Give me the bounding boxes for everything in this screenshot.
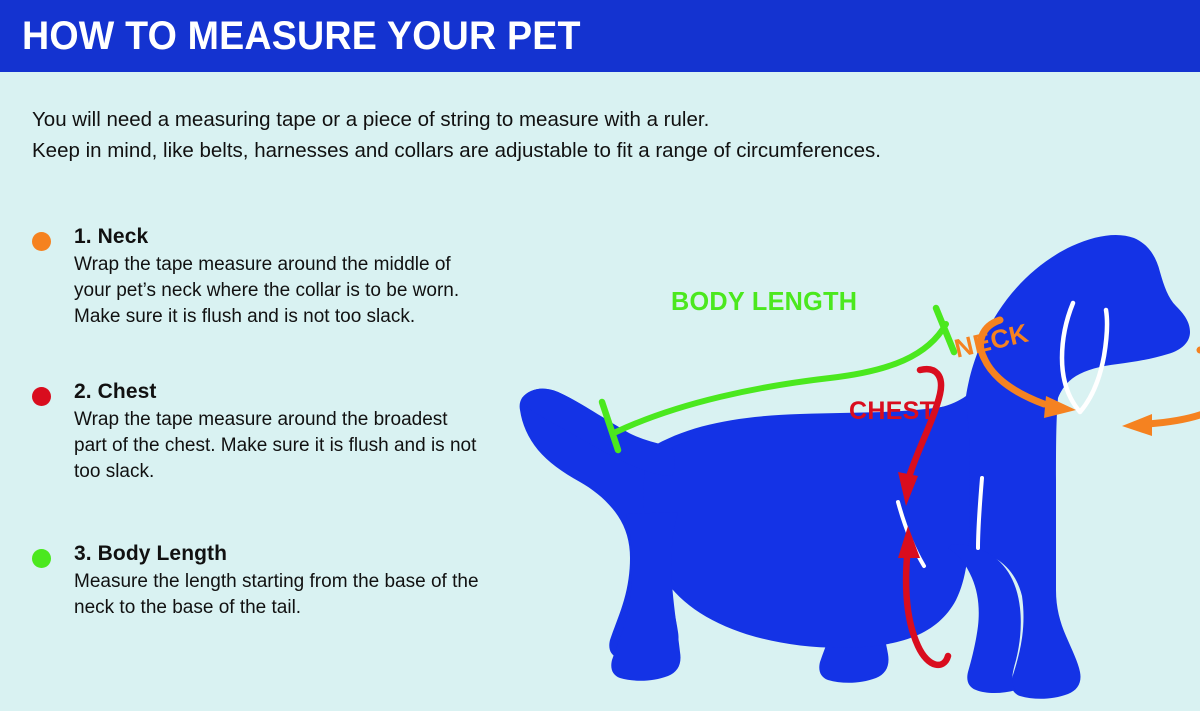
- step-title: 2. Chest: [74, 379, 512, 405]
- label-chest: CHEST: [849, 397, 935, 426]
- step-title: 1. Neck: [74, 224, 512, 250]
- step-desc-line: Wrap the tape measure around the middle …: [74, 252, 512, 278]
- step-description: Measure the length starting from the bas…: [74, 569, 512, 621]
- step-desc-line: Wrap the tape measure around the broades…: [74, 407, 512, 433]
- step-desc-line: your pet’s neck where the collar is to b…: [74, 278, 512, 304]
- step-desc-line: Make sure it is flush and is not too sla…: [74, 304, 512, 330]
- step-desc-line: too slack.: [74, 459, 512, 485]
- step-body: 2. Chest Wrap the tape measure around th…: [74, 379, 512, 485]
- step-item-neck: 1. Neck Wrap the tape measure around the…: [32, 224, 512, 330]
- neck-arrow-right: [1148, 350, 1200, 424]
- step-description: Wrap the tape measure around the middle …: [74, 252, 512, 330]
- bullet-icon-body-length: [32, 549, 51, 568]
- step-item-chest: 2. Chest Wrap the tape measure around th…: [32, 379, 512, 485]
- label-body-length: BODY LENGTH: [671, 286, 857, 317]
- infographic-page: HOW TO MEASURE YOUR PET You will need a …: [0, 0, 1200, 711]
- step-desc-line: Measure the length starting from the bas…: [74, 569, 512, 595]
- intro-line-1: You will need a measuring tape or a piec…: [32, 104, 1052, 135]
- bullet-icon-neck: [32, 232, 51, 251]
- intro-line-2: Keep in mind, like belts, harnesses and …: [32, 135, 1052, 166]
- dog-hind-leg-rear: [611, 512, 680, 681]
- step-body: 1. Neck Wrap the tape measure around the…: [74, 224, 512, 330]
- step-item-body-length: 3. Body Length Measure the length starti…: [32, 541, 512, 621]
- step-title: 3. Body Length: [74, 541, 512, 567]
- step-description: Wrap the tape measure around the broades…: [74, 407, 512, 485]
- step-desc-line: neck to the base of the tail.: [74, 595, 512, 621]
- step-body: 3. Body Length Measure the length starti…: [74, 541, 512, 621]
- step-desc-line: part of the chest. Make sure it is flush…: [74, 433, 512, 459]
- intro-paragraph: You will need a measuring tape or a piec…: [32, 104, 1052, 166]
- dog-measurement-diagram: [500, 180, 1200, 711]
- bullet-icon-chest: [32, 387, 51, 406]
- neck-arrow-right-head: [1122, 414, 1152, 436]
- header-bar: HOW TO MEASURE YOUR PET: [0, 0, 1200, 72]
- page-title: HOW TO MEASURE YOUR PET: [22, 13, 581, 59]
